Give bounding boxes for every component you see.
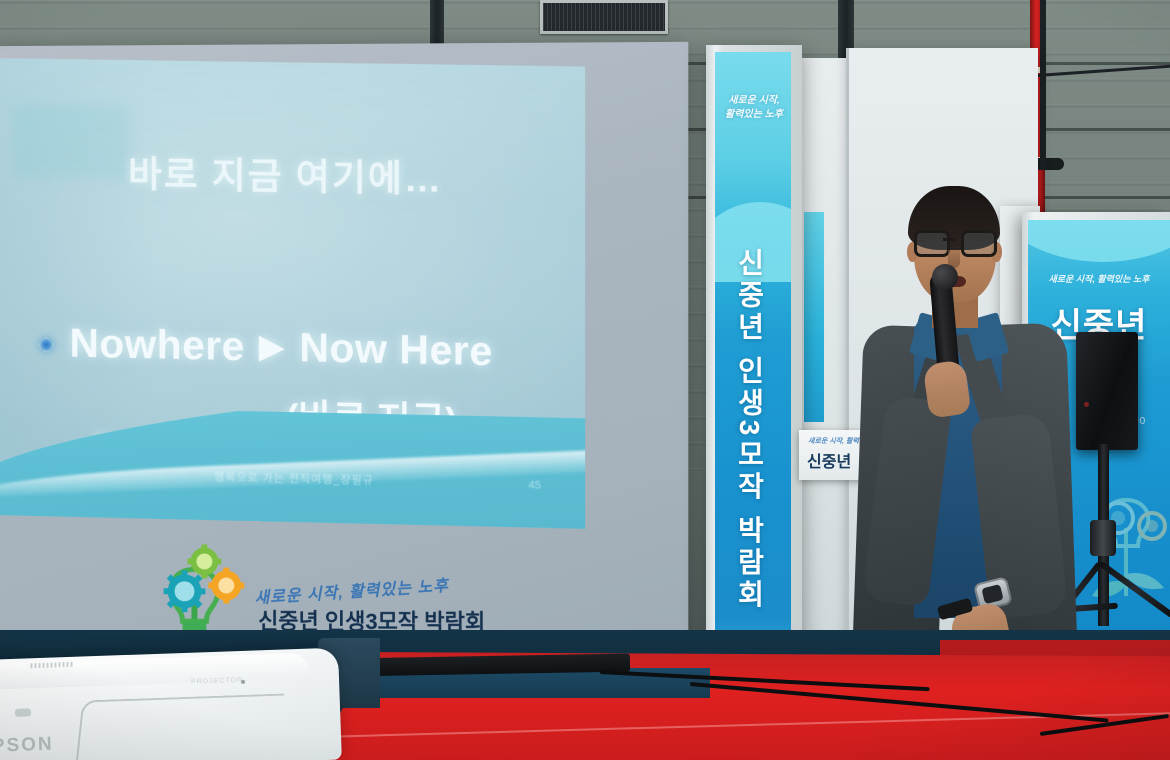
banner-tagline-line1: 새로운 시작, — [720, 94, 788, 108]
projector: PROJECTOR EPSON — [0, 648, 342, 760]
projector-lamp-lid — [75, 693, 284, 760]
banner-tagline-line2: 활력있는 노후 — [720, 108, 788, 122]
slide-title: 바로 지금 여기에… — [0, 142, 585, 206]
booth-panel-cyan — [804, 212, 824, 422]
eyeglasses-right-lens — [961, 230, 997, 257]
banner-tagline: 새로운 시작, 활력있는 노후 — [720, 94, 788, 122]
signboard-label: 신중년 — [807, 448, 851, 472]
projector-brand-text: EPSON — [0, 734, 54, 759]
slide-wave-decoration — [0, 406, 585, 529]
banner-tower-face: 새로운 시작, 활력있는 노후 신중년 인생3모작 박람회 — [715, 52, 791, 693]
slide-text-nowhere: Nowhere — [70, 320, 245, 369]
panel-edge — [846, 48, 849, 688]
pa-speaker — [1076, 332, 1138, 450]
eyebrow-right — [964, 224, 988, 228]
photo-scene: 고용노동 바로 지금 여기에… Nowhere▶Now Here (바로 지금)… — [0, 0, 1170, 760]
projector-focus-knob[interactable] — [15, 708, 31, 717]
speaker-stand-clamp — [1090, 520, 1116, 556]
arrow-right-icon: ▶ — [259, 328, 286, 366]
banner-tower: 새로운 시작, 활력있는 노후 신중년 인생3모작 박람회 — [706, 45, 802, 700]
eyeglasses-bridge — [943, 238, 955, 241]
eyeglasses-left-lens — [914, 230, 950, 257]
wall-vent-panel — [540, 0, 668, 34]
slide-bullet-line: Nowhere▶Now Here — [70, 320, 493, 375]
projection-screen: 바로 지금 여기에… Nowhere▶Now Here (바로 지금) – To… — [0, 42, 688, 674]
projector-label-text: PROJECTOR — [191, 677, 243, 686]
slide-page-number: 45 — [528, 479, 540, 491]
eyebrow-left — [920, 224, 944, 228]
banner-vertical-title: 신중년 인생3모작 박람회 — [729, 248, 769, 611]
projected-slide: 바로 지금 여기에… Nowhere▶Now Here (바로 지금) – To… — [0, 58, 585, 529]
projector-top-panel — [0, 653, 309, 691]
projector-indicator-led — [241, 680, 245, 684]
slide-bullet-icon — [37, 336, 55, 354]
ceiling-wire — [1040, 0, 1046, 170]
slide-text-nowhere-split: Now Here — [299, 324, 492, 374]
